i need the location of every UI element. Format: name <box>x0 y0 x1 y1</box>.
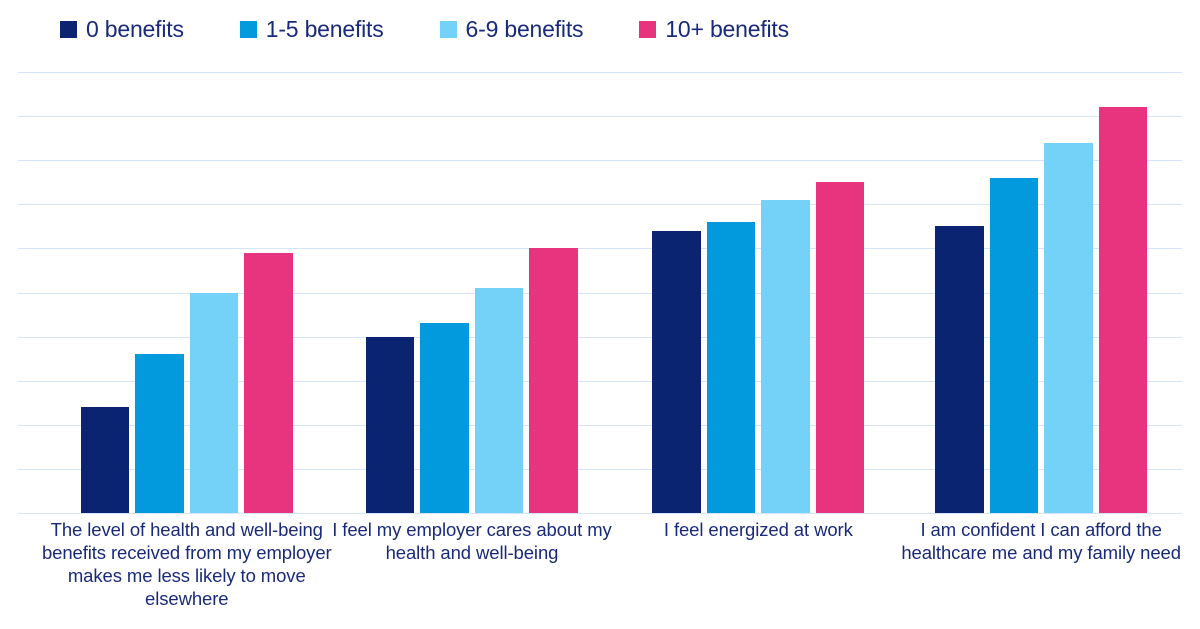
category-label-3: I am confident I can afford the healthca… <box>886 518 1196 564</box>
legend-label-3: 10+ benefits <box>665 16 789 43</box>
legend-label-1: 1-5 benefits <box>266 16 384 43</box>
bar-g0-s3[interactable] <box>244 253 292 513</box>
bar-g2-s2[interactable] <box>761 200 809 513</box>
bar-g0-s2[interactable] <box>190 293 238 514</box>
bar-g2-s1[interactable] <box>707 222 755 513</box>
legend-square-swatch-3 <box>639 21 656 38</box>
bar-group-0 <box>81 72 293 513</box>
legend-item-3[interactable]: 10+ benefits <box>639 16 789 43</box>
bar-g0-s1[interactable] <box>135 354 183 513</box>
chart-legend: 0 benefits1-5 benefits6-9 benefits10+ be… <box>0 0 1200 58</box>
legend-item-2[interactable]: 6-9 benefits <box>440 16 584 43</box>
bar-g3-s3[interactable] <box>1099 107 1147 513</box>
bar-g0-s0[interactable] <box>81 407 129 513</box>
bar-chart: 0 benefits1-5 benefits6-9 benefits10+ be… <box>0 0 1200 629</box>
legend-item-0[interactable]: 0 benefits <box>60 16 184 43</box>
legend-square-swatch-2 <box>440 21 457 38</box>
bar-group-1 <box>366 72 578 513</box>
legend-label-2: 6-9 benefits <box>466 16 584 43</box>
bar-g1-s3[interactable] <box>529 248 577 513</box>
gridline-10 <box>18 513 1182 514</box>
legend-square-swatch-1 <box>240 21 257 38</box>
plot-area <box>18 72 1182 513</box>
category-axis-labels: The level of health and well-being benef… <box>18 518 1182 626</box>
category-label-0: The level of health and well-being benef… <box>37 518 337 610</box>
bar-g1-s0[interactable] <box>366 337 414 513</box>
bar-g3-s2[interactable] <box>1044 143 1092 513</box>
legend-item-1[interactable]: 1-5 benefits <box>240 16 384 43</box>
bar-g1-s1[interactable] <box>420 323 468 513</box>
bar-g1-s2[interactable] <box>475 288 523 513</box>
bar-group-3 <box>935 72 1147 513</box>
category-label-1: I feel my employer cares about my health… <box>322 518 622 564</box>
bars-layer <box>18 72 1182 513</box>
legend-square-swatch-0 <box>60 21 77 38</box>
bar-g2-s0[interactable] <box>652 231 700 513</box>
bar-g3-s1[interactable] <box>990 178 1038 513</box>
bar-g2-s3[interactable] <box>816 182 864 513</box>
bar-g3-s0[interactable] <box>935 226 983 513</box>
category-label-2: I feel energized at work <box>623 518 893 541</box>
legend-label-0: 0 benefits <box>86 16 184 43</box>
bar-group-2 <box>652 72 864 513</box>
